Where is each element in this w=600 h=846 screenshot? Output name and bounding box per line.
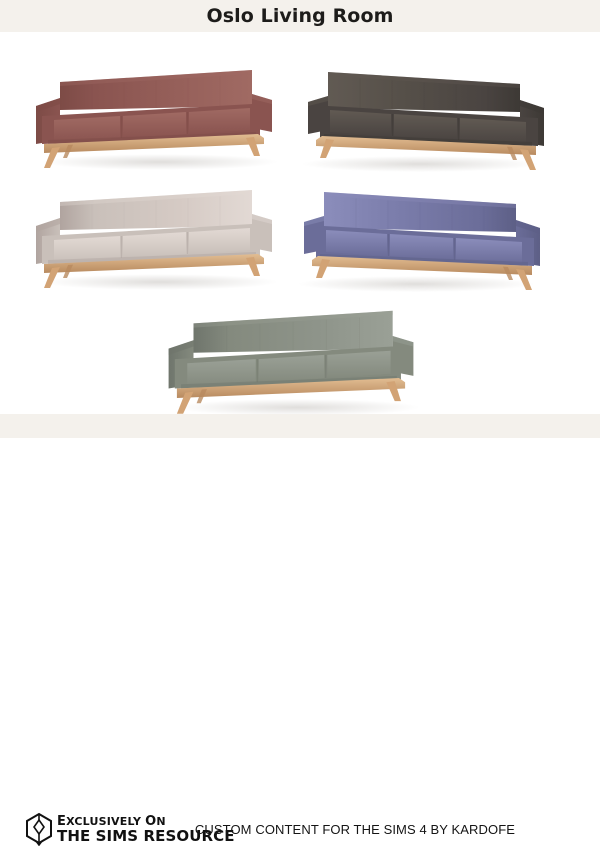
seat-cushion-3	[189, 228, 250, 254]
sofa-cream[interactable]	[20, 174, 288, 294]
floor-shadow	[42, 274, 278, 290]
sofa-sage[interactable]	[152, 294, 430, 420]
floor-shadow	[302, 156, 538, 172]
seat-cushion-2	[123, 232, 186, 258]
seat-cushion-3	[330, 110, 391, 136]
sofa-periwinkle[interactable]	[288, 176, 556, 296]
sofa-charcoal[interactable]	[292, 56, 560, 176]
sofa-sage-graphic	[152, 294, 430, 420]
sofa-gallery	[0, 32, 600, 404]
seat-cushion-2	[123, 112, 186, 138]
seat-cushion-3	[326, 230, 387, 256]
page-title: Oslo Living Room	[206, 5, 393, 27]
custom-content-credit: CUSTOM CONTENT FOR THE SIMS 4 BY KARDOFE	[0, 822, 600, 837]
sofa-charcoal-graphic	[292, 56, 560, 176]
footer: EXCLUSIVELY ON THE SIMS RESOURCE CUSTOM …	[0, 404, 600, 450]
seat-cushion-2	[390, 234, 453, 260]
seat-cushion-2	[394, 114, 457, 140]
floor-shadow	[42, 154, 278, 170]
seat-cushion-3	[189, 108, 250, 134]
title-band: Oslo Living Room	[0, 0, 600, 32]
floor-shadow	[298, 276, 534, 292]
sofa-cream-graphic	[20, 174, 288, 294]
seat-cushion-2	[259, 355, 324, 382]
sofa-terracotta[interactable]	[20, 54, 288, 174]
seat-cushion-3	[327, 351, 390, 378]
sofa-periwinkle-graphic	[288, 176, 556, 296]
sofa-terracotta-graphic	[20, 54, 288, 174]
